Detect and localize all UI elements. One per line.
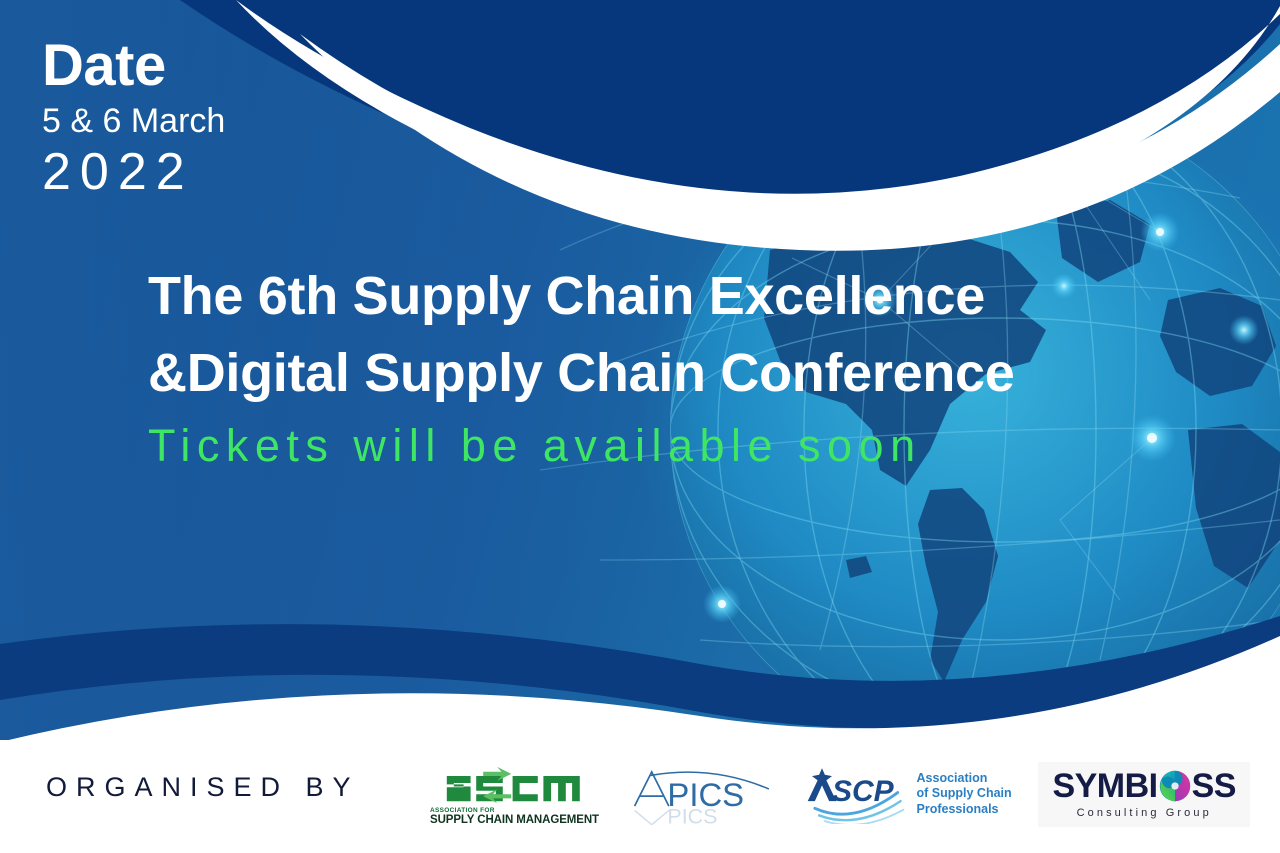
- conference-banner: Date 5 & 6 March 2022 The 6th Supply Cha…: [0, 0, 1280, 853]
- ascp-logo[interactable]: SCP Association of Supply Chain Professi…: [803, 764, 1012, 824]
- ascm-subtitle-big: SUPPLY CHAIN MANAGEMENT: [430, 814, 599, 826]
- ascp-wordmark-icon: SCP: [803, 764, 911, 824]
- date-label: Date: [42, 36, 225, 97]
- date-block: Date 5 & 6 March 2022: [42, 36, 225, 201]
- symbioss-logo[interactable]: SYMBI: [1038, 762, 1250, 827]
- tickets-tagline: Tickets will be available soon: [148, 413, 1208, 478]
- ascp-tagline-line-3: Professionals: [917, 802, 1012, 817]
- symbioss-word-start: SYMBI: [1052, 769, 1157, 803]
- symbioss-swirl-icon: [1159, 770, 1191, 802]
- svg-text:PICS: PICS: [667, 804, 717, 825]
- ascm-logo[interactable]: ASSOCIATION FOR SUPPLY CHAIN MANAGEMENT: [430, 762, 599, 826]
- symbioss-word-end: SS: [1192, 769, 1236, 803]
- ascp-letters: SCP: [832, 775, 895, 808]
- ascm-wordmark-icon: [444, 762, 584, 804]
- symbioss-subtitle: Consulting Group: [1077, 807, 1212, 819]
- date-days: 5 & 6 March: [42, 103, 225, 140]
- ascm-subtitle-small: ASSOCIATION FOR: [430, 807, 495, 814]
- ascp-tagline-line-1: Association: [917, 771, 1012, 786]
- headline-line-2: &Digital Supply Chain Conference: [148, 335, 1208, 412]
- ascp-tagline-line-2: of Supply Chain: [917, 786, 1012, 801]
- ascp-tagline: Association of Supply Chain Professional…: [917, 771, 1012, 817]
- organiser-logos: ASSOCIATION FOR SUPPLY CHAIN MANAGEMENT …: [430, 744, 1250, 844]
- headline-block: The 6th Supply Chain Excellence &Digital…: [148, 258, 1208, 479]
- apics-logo[interactable]: PICS PICS: [626, 763, 776, 825]
- headline-line-1: The 6th Supply Chain Excellence: [148, 258, 1208, 335]
- symbioss-wordmark: SYMBI: [1052, 769, 1236, 803]
- apics-wordmark-icon: PICS PICS: [626, 763, 776, 825]
- date-year: 2022: [42, 144, 225, 201]
- organised-by-label: ORGANISED BY: [46, 772, 360, 803]
